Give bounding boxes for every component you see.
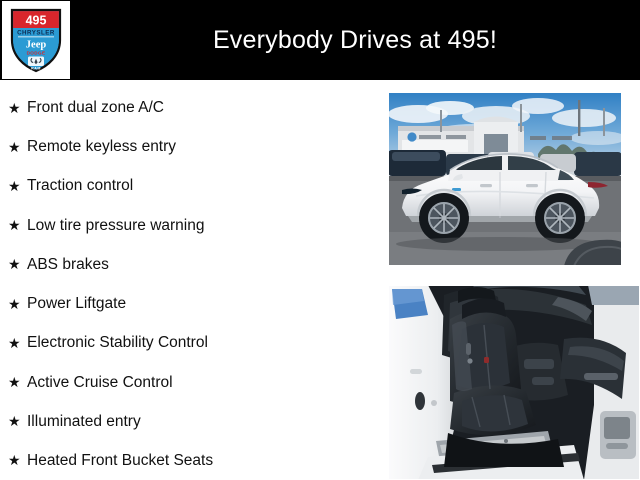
star-bullet-icon: ★ bbox=[8, 257, 27, 271]
list-item: ★ Heated Front Bucket Seats bbox=[0, 441, 380, 480]
route-shield-icon: 495 CHRYSLER Jeep DODGE RAM bbox=[8, 6, 64, 74]
star-bullet-icon: ★ bbox=[8, 297, 27, 311]
list-item: ★ Electronic Stability Control bbox=[0, 323, 380, 362]
star-bullet-icon: ★ bbox=[8, 140, 27, 154]
star-bullet-icon: ★ bbox=[8, 179, 27, 193]
feature-label: Low tire pressure warning bbox=[27, 217, 204, 234]
star-bullet-icon: ★ bbox=[8, 375, 27, 389]
vehicle-exterior-photo bbox=[388, 92, 622, 266]
vehicle-interior-photo bbox=[388, 285, 640, 480]
feature-label: Front dual zone A/C bbox=[27, 99, 164, 116]
feature-label: Active Cruise Control bbox=[27, 374, 173, 391]
shield-brand-dodge: DODGE bbox=[27, 51, 46, 56]
feature-label: Heated Front Bucket Seats bbox=[27, 452, 213, 469]
feature-label: Illuminated entry bbox=[27, 413, 141, 430]
vehicle-feature-slide: 495 CHRYSLER Jeep DODGE RAM Everybody Dr… bbox=[0, 0, 640, 480]
list-item: ★ Low tire pressure warning bbox=[0, 206, 380, 245]
list-item: ★ Remote keyless entry bbox=[0, 127, 380, 166]
feature-label: Electronic Stability Control bbox=[27, 334, 208, 351]
feature-list: ★ Front dual zone A/C ★ Remote keyless e… bbox=[0, 84, 380, 480]
list-item: ★ Traction control bbox=[0, 166, 380, 205]
list-item: ★ Front dual zone A/C bbox=[0, 88, 380, 127]
shield-route-number: 495 bbox=[26, 14, 47, 28]
slide-header: 495 CHRYSLER Jeep DODGE RAM Everybody Dr… bbox=[0, 0, 640, 80]
list-item: ★ Power Liftgate bbox=[0, 284, 380, 323]
shield-brand-chrysler: CHRYSLER bbox=[17, 30, 55, 37]
list-item: ★ ABS brakes bbox=[0, 245, 380, 284]
feature-label: Power Liftgate bbox=[27, 295, 126, 312]
dealer-logo: 495 CHRYSLER Jeep DODGE RAM bbox=[2, 1, 70, 79]
list-item: ★ Illuminated entry bbox=[0, 402, 380, 441]
star-bullet-icon: ★ bbox=[8, 453, 27, 467]
page-title: Everybody Drives at 495! bbox=[80, 0, 640, 80]
star-bullet-icon: ★ bbox=[8, 414, 27, 428]
feature-label: ABS brakes bbox=[27, 256, 109, 273]
star-bullet-icon: ★ bbox=[8, 218, 27, 232]
shield-brand-jeep: Jeep bbox=[26, 40, 47, 51]
list-item: ★ Active Cruise Control bbox=[0, 362, 380, 401]
shield-brand-ram: RAM bbox=[31, 66, 41, 70]
star-bullet-icon: ★ bbox=[8, 336, 27, 350]
star-bullet-icon: ★ bbox=[8, 101, 27, 115]
feature-label: Traction control bbox=[27, 177, 133, 194]
feature-label: Remote keyless entry bbox=[27, 138, 176, 155]
